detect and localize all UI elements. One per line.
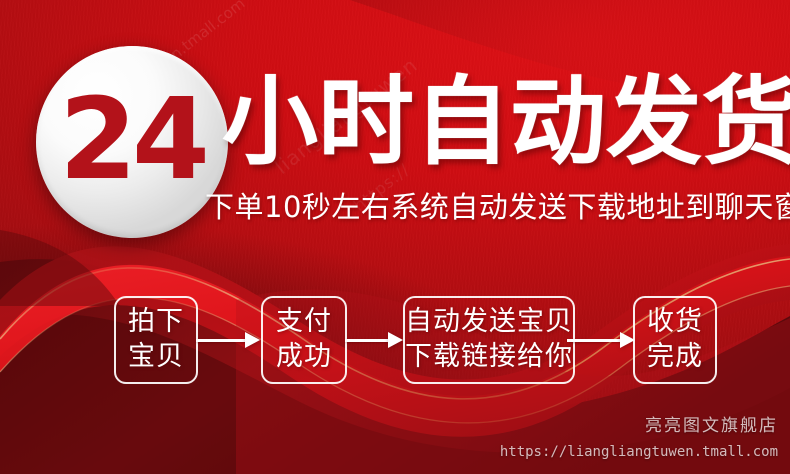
headline: 小时自动发货 — [222, 72, 790, 173]
hours-badge-number: 24 — [36, 84, 228, 196]
flow-arrow-2 — [345, 332, 403, 348]
arrow-shaft — [196, 339, 246, 342]
flow-step-1-line2: 宝贝 — [128, 340, 184, 375]
promo-banner: liangliangtuwen https:// https://liangli… — [0, 0, 790, 474]
arrow-shaft — [345, 339, 389, 342]
shop-url: https://liangliangtuwen.tmall.com — [500, 444, 778, 460]
arrow-head-icon — [245, 332, 260, 348]
flow-step-2: 支付 成功 — [261, 296, 347, 384]
process-flow: 拍下 宝贝 支付 成功 自动发送宝贝 下载链接给你 收货 完成 — [0, 296, 790, 392]
flow-step-4-line2: 完成 — [647, 340, 703, 375]
flow-step-3-line1: 自动发送宝贝 — [405, 305, 573, 340]
flow-step-2-line2: 成功 — [276, 340, 332, 375]
flow-step-4: 收货 完成 — [633, 296, 717, 384]
hours-badge-circle: 24 — [36, 46, 228, 238]
flow-step-1-line1: 拍下 — [128, 305, 184, 340]
flow-step-1: 拍下 宝贝 — [114, 296, 198, 384]
flow-arrow-3 — [567, 332, 635, 348]
flow-step-2-line1: 支付 — [276, 305, 332, 340]
flow-arrow-1 — [196, 332, 260, 348]
arrow-head-icon — [388, 332, 403, 348]
flow-step-3-line2: 下载链接给你 — [405, 340, 573, 375]
arrow-shaft — [567, 339, 621, 342]
shop-name: 亮亮图文旗舰店 — [645, 411, 778, 436]
flow-step-3: 自动发送宝贝 下载链接给你 — [403, 296, 575, 384]
subheadline: 下单10秒左右系统自动发送下载地址到聊天窗口 — [205, 192, 790, 224]
flow-step-4-line1: 收货 — [647, 305, 703, 340]
